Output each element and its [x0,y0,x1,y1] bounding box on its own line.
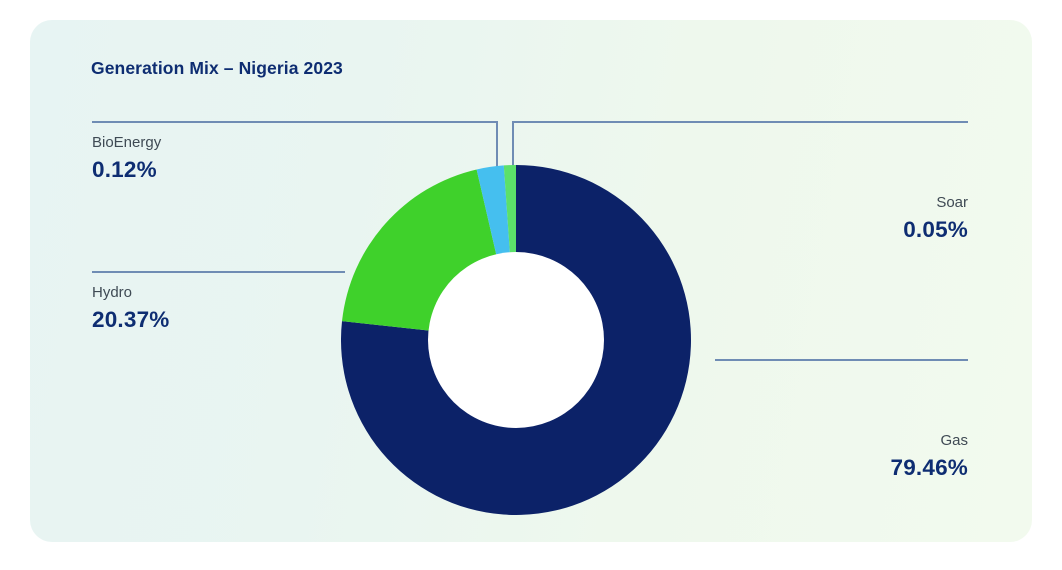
leader-line-gas-horizontal [715,359,968,361]
callout-soar: Soar 0.05% [903,194,968,243]
callout-bioenergy-value: 0.12% [92,157,161,184]
donut-chart [341,165,691,515]
leader-line-hydro-horizontal [92,271,345,273]
callout-hydro-value: 20.37% [92,307,170,334]
donut-center-hole [428,252,604,428]
callout-gas-value: 79.46% [890,455,968,482]
donut-chart-svg [341,165,691,515]
page-title: Generation Mix – Nigeria 2023 [91,58,343,79]
leader-line-bioenergy-horizontal [92,121,498,123]
callout-soar-label: Soar [903,194,968,212]
callout-bioenergy-label: BioEnergy [92,134,161,152]
callout-gas-label: Gas [890,432,968,450]
callout-gas: Gas 79.46% [890,432,968,481]
callout-hydro-label: Hydro [92,284,170,302]
callout-hydro: Hydro 20.37% [92,284,170,333]
leader-line-soar-horizontal [512,121,968,123]
callout-soar-value: 0.05% [903,217,968,244]
callout-bioenergy: BioEnergy 0.12% [92,134,161,183]
chart-card: Generation Mix – Nigeria 2023 BioEnergy … [30,20,1032,542]
